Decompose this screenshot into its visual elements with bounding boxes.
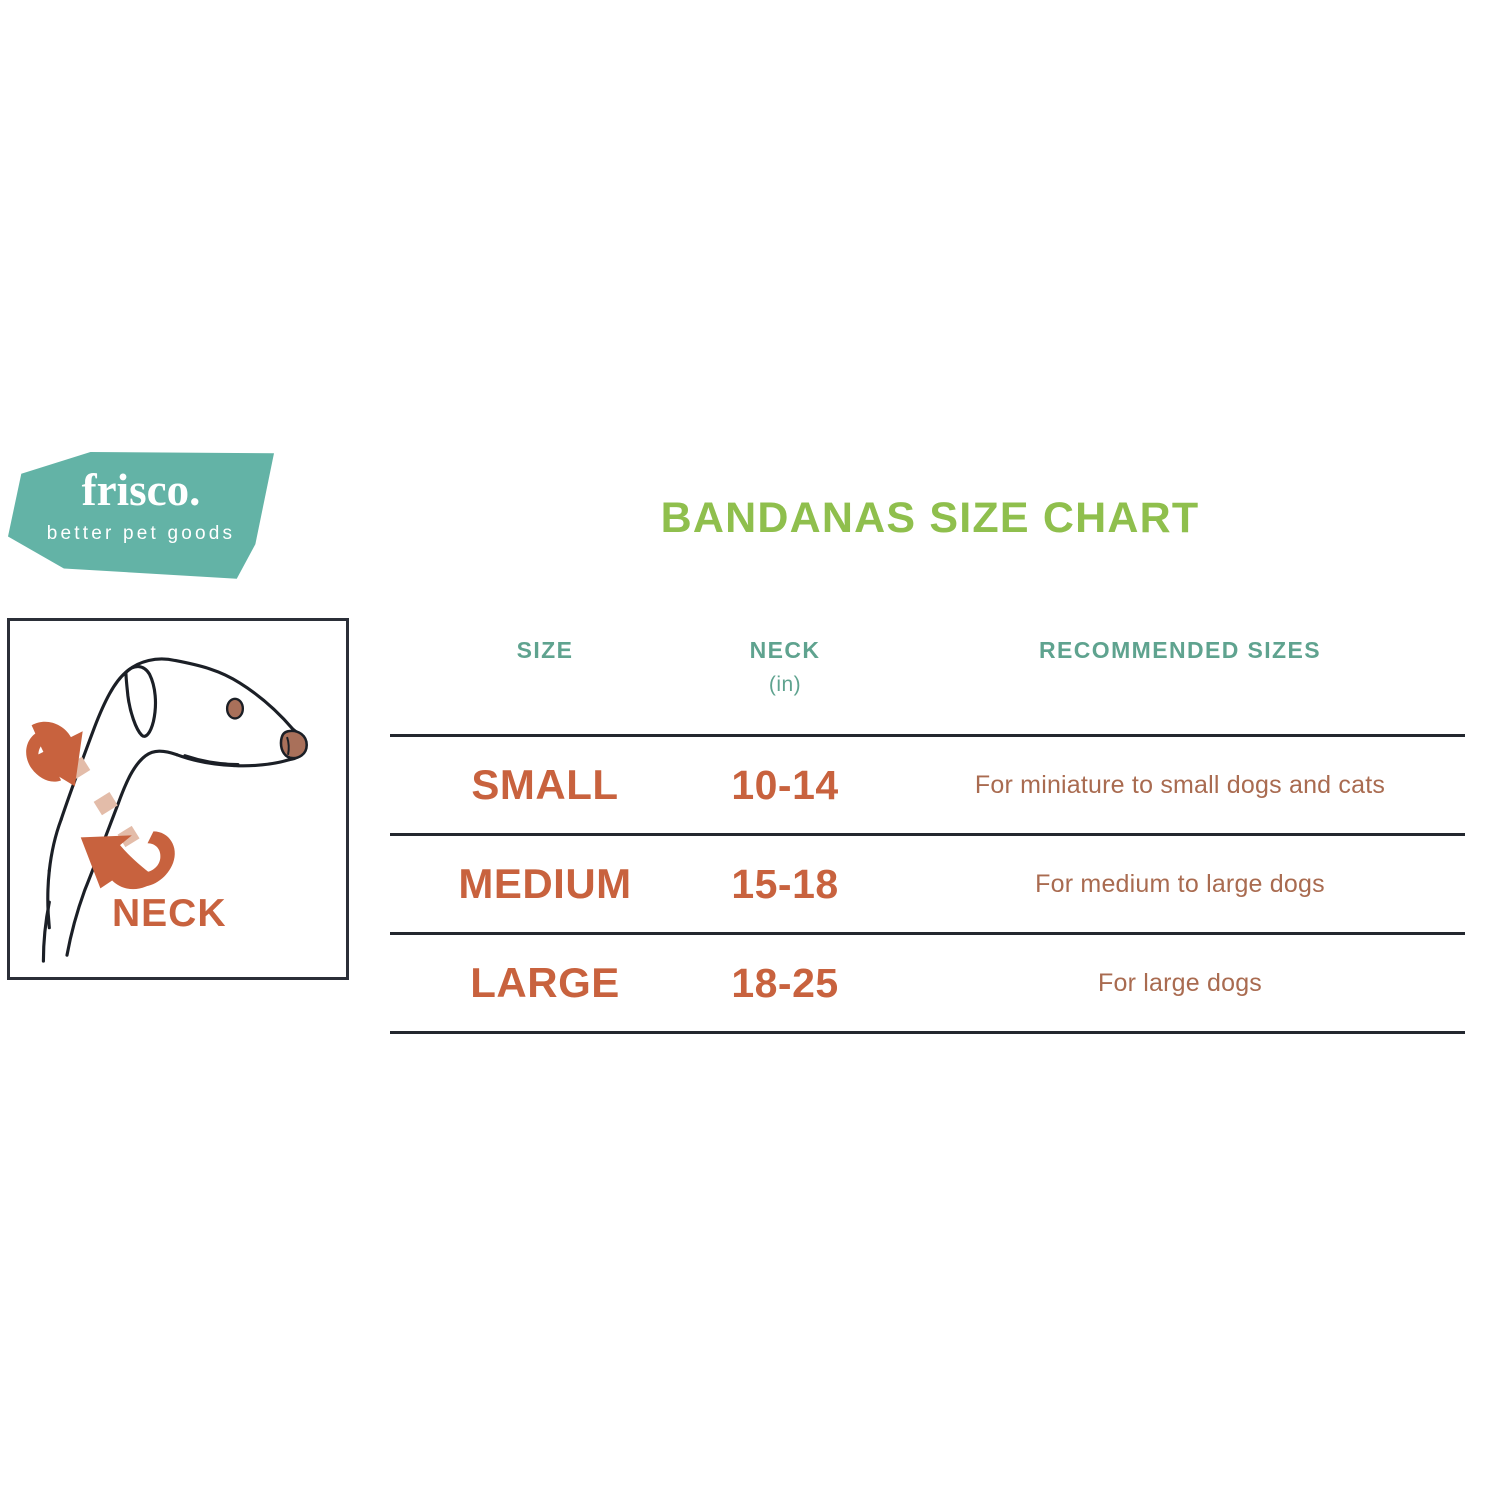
measurement-dashes — [66, 757, 139, 847]
cell-neck-small: 10-14 — [660, 737, 910, 833]
column-header-neck-label: NECK — [750, 637, 821, 663]
table-divider-bottom — [390, 1031, 1465, 1034]
neck-diagram-label: NECK — [112, 892, 227, 936]
size-chart-table: SIZE NECK (in) RECOMMENDED SIZES SMALL 1… — [390, 622, 1465, 1034]
column-header-size-label: SIZE — [517, 637, 574, 663]
column-header-recommended-label: RECOMMENDED SIZES — [1039, 637, 1321, 663]
cell-recommended-medium: For medium to large dogs — [910, 836, 1450, 932]
cell-size-large: LARGE — [420, 935, 670, 1031]
table-row: LARGE 18-25 For large dogs — [390, 935, 1465, 1031]
cell-neck-large: 18-25 — [660, 935, 910, 1031]
cell-size-small: SMALL — [420, 737, 670, 833]
cell-neck-medium: 15-18 — [660, 836, 910, 932]
column-header-recommended: RECOMMENDED SIZES — [910, 637, 1450, 664]
column-header-neck: NECK (in) — [660, 637, 910, 697]
column-header-size: SIZE — [420, 637, 670, 664]
table-row: SMALL 10-14 For miniature to small dogs … — [390, 737, 1465, 833]
cell-size-medium: MEDIUM — [420, 836, 670, 932]
logo-tagline: better pet goods — [8, 524, 274, 543]
table-header-row: SIZE NECK (in) RECOMMENDED SIZES — [390, 622, 1465, 734]
cell-recommended-large: For large dogs — [910, 935, 1450, 1031]
table-row: MEDIUM 15-18 For medium to large dogs — [390, 836, 1465, 932]
frisco-logo: frisco. better pet goods — [8, 452, 274, 580]
logo-wordmark: frisco. — [8, 468, 274, 513]
neck-wrap-arrow-upper — [26, 722, 83, 786]
column-header-neck-unit: (in) — [660, 673, 910, 697]
cell-recommended-small: For miniature to small dogs and cats — [910, 737, 1450, 833]
chart-title: BANDANAS SIZE CHART — [390, 494, 1470, 543]
